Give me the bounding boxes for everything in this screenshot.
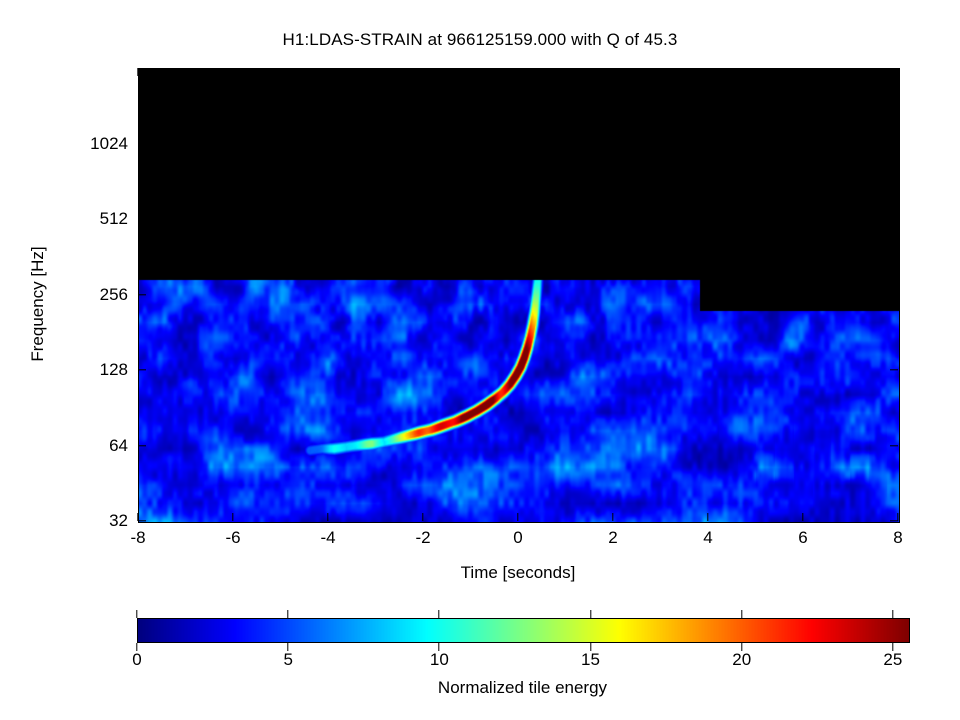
x-tick-mark [327,68,328,76]
x-tick-label: -2 [415,528,430,548]
y-tick-mark [138,520,146,521]
plot-title: H1:LDAS-STRAIN at 966125159.000 with Q o… [0,30,960,50]
y-axis-label: Frequency [Hz] [28,209,48,399]
x-tick-mark [232,68,233,76]
colorbar-tick-mark [892,643,893,651]
y-tick-mark [138,218,146,219]
x-tick-mark [422,68,423,76]
x-tick-mark [612,68,613,76]
colorbar-tick-label: 0 [132,650,141,670]
colorbar-tick-mark [287,610,288,618]
y-tick-mark [138,143,146,144]
y-tick-label: 1024 [90,134,128,154]
x-tick-mark [802,513,803,521]
x-tick-mark [517,513,518,521]
x-tick-label: -8 [130,528,145,548]
x-tick-mark [232,513,233,521]
colorbar-tick-mark [892,610,893,618]
x-tick-mark [137,513,138,521]
y-tick-mark [890,294,898,295]
x-tick-mark [802,68,803,76]
colorbar-gradient [138,619,909,642]
colorbar-tick-label: 25 [883,650,902,670]
y-tick-label: 32 [109,511,128,531]
x-tick-label: 8 [893,528,902,548]
colorbar [137,618,910,643]
colorbar-tick-mark [136,610,137,618]
spectrogram-image [139,69,899,522]
x-tick-mark [612,513,613,521]
colorbar-tick-label: 20 [732,650,751,670]
colorbar-tick-label: 15 [581,650,600,670]
x-tick-label: 4 [703,528,712,548]
x-tick-label: 2 [608,528,617,548]
colorbar-tick-mark [590,643,591,651]
x-tick-mark [137,68,138,76]
x-tick-label: 0 [513,528,522,548]
colorbar-label: Normalized tile energy [137,678,908,698]
y-tick-label: 512 [100,209,128,229]
y-tick-mark [890,369,898,370]
colorbar-tick-mark [741,643,742,651]
colorbar-tick-mark [439,610,440,618]
spectrogram-figure: H1:LDAS-STRAIN at 966125159.000 with Q o… [0,0,960,720]
colorbar-tick-mark [439,643,440,651]
x-tick-mark [897,68,898,76]
y-axis-ticks: 32641282565121024 [0,0,128,720]
x-axis-label: Time [seconds] [138,563,898,583]
y-tick-mark [890,445,898,446]
x-tick-mark [517,68,518,76]
x-tick-label: 6 [798,528,807,548]
y-tick-mark [138,445,146,446]
colorbar-tick-label: 5 [283,650,292,670]
y-tick-mark [138,294,146,295]
y-tick-mark [138,369,146,370]
x-tick-label: -4 [320,528,335,548]
colorbar-tick-mark [741,610,742,618]
spectrogram-plot-area [138,68,900,523]
y-tick-mark [890,218,898,219]
x-tick-mark [707,68,708,76]
y-tick-label: 64 [109,436,128,456]
colorbar-tick-mark [136,643,137,651]
colorbar-tick-label: 10 [430,650,449,670]
colorbar-tick-mark [590,610,591,618]
x-tick-mark [422,513,423,521]
x-tick-mark [897,513,898,521]
y-tick-mark [890,143,898,144]
colorbar-tick-mark [287,643,288,651]
x-tick-label: -6 [225,528,240,548]
x-tick-mark [707,513,708,521]
x-tick-mark [327,513,328,521]
y-tick-label: 256 [100,285,128,305]
y-tick-label: 128 [100,360,128,380]
